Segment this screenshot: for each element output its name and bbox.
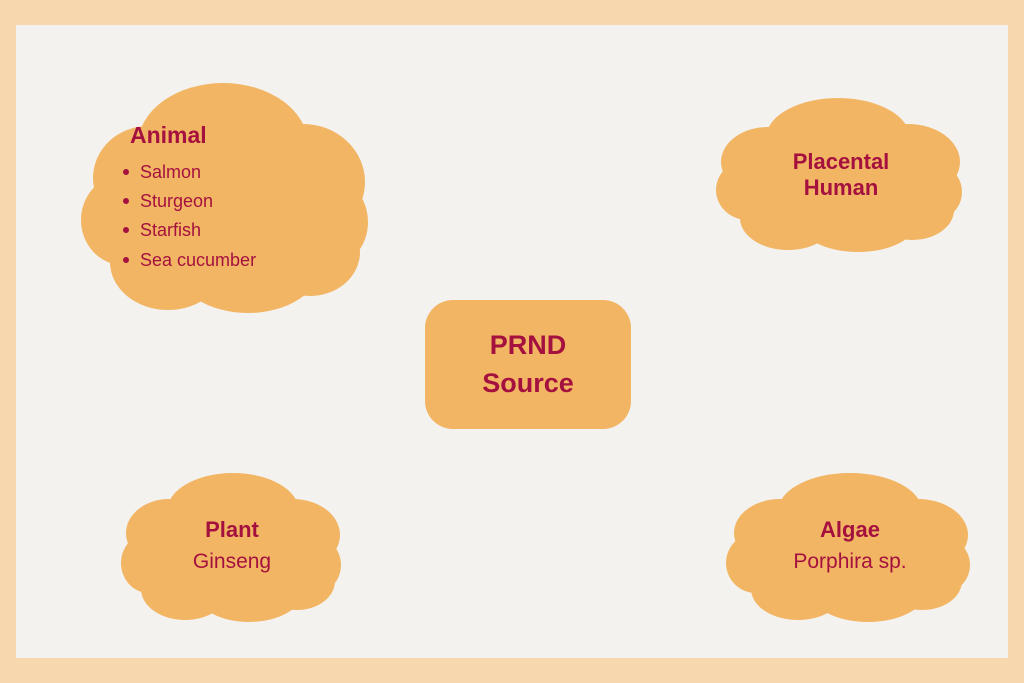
list-item: Starfish xyxy=(140,216,256,245)
node-placental-human-title-line2: Human xyxy=(804,175,879,201)
node-placental-human[interactable]: Placental Human xyxy=(716,90,966,255)
list-item: Sturgeon xyxy=(140,187,256,216)
node-algae-content: Algae Porphira sp. xyxy=(726,465,974,625)
node-animal-list: Salmon Sturgeon Starfish Sea cucumber xyxy=(78,158,256,275)
node-prnd-source-line1: PRND xyxy=(490,327,567,364)
node-algae-subtitle: Porphira sp. xyxy=(793,549,906,574)
node-animal[interactable]: Animal Salmon Sturgeon Starfish Sea cucu… xyxy=(78,70,368,315)
list-item: Salmon xyxy=(140,158,256,187)
node-algae-title: Algae xyxy=(820,517,880,543)
node-prnd-source-line2: Source xyxy=(482,365,574,402)
node-plant-subtitle: Ginseng xyxy=(193,549,271,574)
node-plant[interactable]: Plant Ginseng xyxy=(121,465,343,625)
node-placental-human-content: Placental Human xyxy=(716,90,966,255)
node-animal-title: Animal xyxy=(78,122,368,149)
node-prnd-source-content: PRND Source xyxy=(425,300,631,429)
node-plant-title: Plant xyxy=(205,517,259,543)
node-placental-human-title-line1: Placental xyxy=(793,149,890,175)
list-item: Sea cucumber xyxy=(140,246,256,275)
node-prnd-source[interactable]: PRND Source xyxy=(425,300,631,429)
node-plant-content: Plant Ginseng xyxy=(121,465,343,625)
node-animal-content: Animal Salmon Sturgeon Starfish Sea cucu… xyxy=(78,70,368,315)
node-algae[interactable]: Algae Porphira sp. xyxy=(726,465,974,625)
diagram-canvas: Animal Salmon Sturgeon Starfish Sea cucu… xyxy=(16,25,1008,658)
